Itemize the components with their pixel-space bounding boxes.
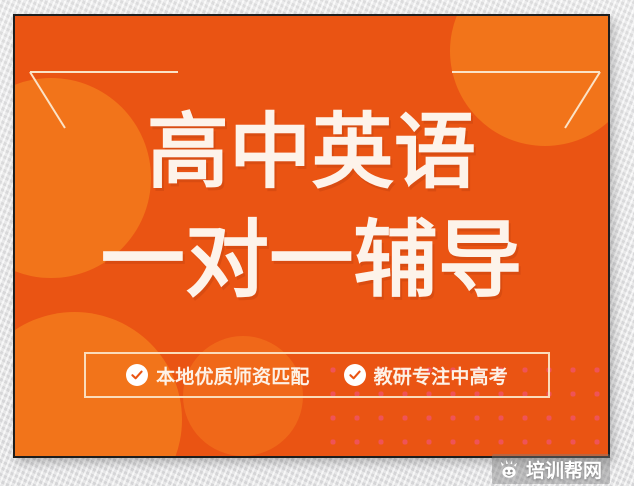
headline-line-2: 一对一辅导 xyxy=(15,218,608,302)
check-circle-icon xyxy=(344,364,366,386)
feature-badge-box: 本地优质师资匹配 教研专注中高考 xyxy=(84,352,550,398)
page-title: 高中英语 一对一辅导 xyxy=(15,112,608,302)
feature-item-1: 教研专注中高考 xyxy=(344,362,508,389)
canvas: 高中英语 一对一辅导 本地优质师资匹配 xyxy=(0,0,634,486)
check-circle-icon xyxy=(126,364,148,386)
watermark-text: 培训帮网 xyxy=(526,456,602,483)
feature-label: 本地优质师资匹配 xyxy=(156,362,310,389)
poster-inner: 高中英语 一对一辅导 本地优质师资匹配 xyxy=(15,16,608,456)
headline-line-1: 高中英语 xyxy=(15,112,608,194)
feature-label: 教研专注中高考 xyxy=(374,362,508,389)
watermark: 培训帮网 xyxy=(492,454,610,484)
sun-face-icon xyxy=(498,458,520,480)
feature-item-0: 本地优质师资匹配 xyxy=(126,362,310,389)
poster: 高中英语 一对一辅导 本地优质师资匹配 xyxy=(13,14,610,458)
